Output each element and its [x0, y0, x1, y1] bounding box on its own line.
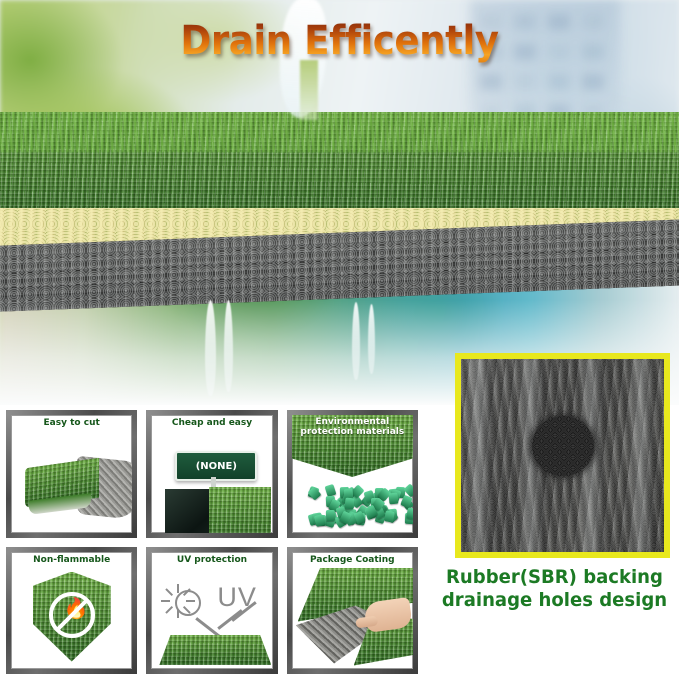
turf-cross-section — [0, 112, 679, 312]
caption-line-1: Rubber(SBR) backing — [436, 566, 673, 589]
turf-blade-tips — [0, 112, 679, 152]
caption-line-2: drainage holes design — [436, 589, 673, 612]
tile-label: Non-flammable — [11, 555, 132, 565]
feature-grid: Easy to cut Cheap and easy (NONE) Enviro… — [6, 410, 418, 674]
feature-tile-environmental-protection[interactable]: Environmental protection materials — [287, 410, 418, 538]
drainage-hole — [532, 416, 594, 476]
infographic-page: Drain Efficently Easy to cut Cheap and e… — [0, 0, 679, 679]
feature-tile-uv-protection[interactable]: UV protection UV — [146, 547, 277, 675]
green-turf-swatch — [209, 487, 271, 538]
feature-tile-easy-to-cut[interactable]: Easy to cut — [6, 410, 137, 538]
resin-pellets — [308, 485, 418, 529]
prohibition-icon — [49, 592, 95, 638]
price-sign: (NONE) — [175, 451, 257, 481]
tile-label: Easy to cut — [11, 418, 132, 428]
rubber-backing-photo — [455, 353, 670, 558]
tile-label: Environmental protection materials — [292, 417, 413, 437]
price-sign-icon: (NONE) — [151, 429, 272, 533]
rubber-ridge — [629, 359, 655, 552]
feature-tile-cheap-and-easy[interactable]: Cheap and easy (NONE) — [146, 410, 277, 538]
rubber-ridge — [467, 359, 493, 552]
rubber-texture — [461, 359, 664, 552]
turf-pad — [159, 635, 271, 665]
right-panel-caption: Rubber(SBR) backing drainage holes desig… — [436, 566, 673, 612]
tile-label: UV protection — [151, 555, 272, 565]
tile-label: Package Coating — [292, 555, 413, 565]
rubber-ridge — [579, 359, 605, 552]
feature-tile-non-flammable[interactable]: Non-flammable 🔥 — [6, 547, 137, 675]
uv-reflection-icon: UV — [151, 566, 272, 670]
water-pour-stream-secondary — [300, 60, 318, 120]
tile-label: Cheap and easy — [151, 418, 272, 428]
no-fire-shield-icon: 🔥 — [11, 566, 132, 670]
page-title: Drain Efficently — [24, 18, 655, 64]
rolled-turf-icon — [11, 429, 132, 533]
feature-tile-package-coating[interactable]: Package Coating — [287, 547, 418, 675]
hand-lifting-turf-icon — [292, 566, 413, 670]
rubber-ridge — [519, 359, 545, 552]
